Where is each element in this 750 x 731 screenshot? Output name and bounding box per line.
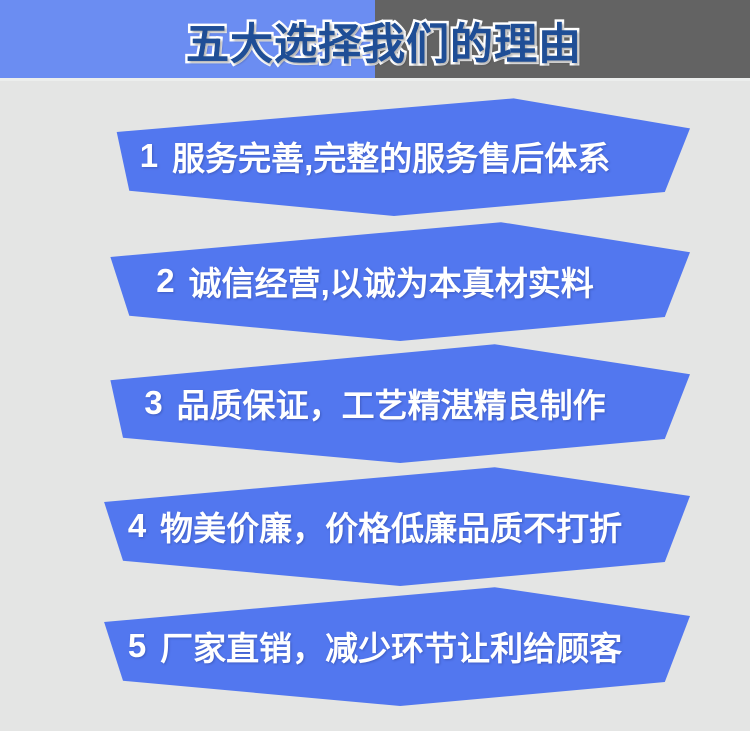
reason-item-2: 2 诚信经营,以诚为本真材实料	[60, 221, 690, 341]
reason-text-row: 3 品质保证，工艺精湛精良制作	[60, 343, 690, 463]
reason-label: 品质保证，工艺精湛精良制作	[177, 379, 606, 427]
reason-number: 1	[140, 137, 158, 175]
reason-label: 服务完善,完整的服务售后体系	[172, 132, 610, 180]
reasons-list: 1 服务完善,完整的服务售后体系 2 诚信经营,以诚为本真材实料 3 品质保证，…	[0, 81, 750, 731]
reason-item-4: 4 物美价廉，价格低廉品质不打折	[60, 466, 690, 586]
reason-number: 5	[128, 627, 146, 665]
reason-number: 3	[144, 384, 162, 422]
reason-item-1: 1 服务完善,完整的服务售后体系	[60, 96, 690, 216]
reason-text-row: 5 厂家直销，减少环节让利给顾客	[60, 586, 690, 706]
reason-item-5: 5 厂家直销，减少环节让利给顾客	[60, 586, 690, 706]
reason-text-row: 4 物美价廉，价格低廉品质不打折	[60, 466, 690, 586]
header-divider	[0, 78, 750, 81]
reason-label: 诚信经营,以诚为本真材实料	[189, 257, 594, 305]
reason-number: 4	[128, 507, 146, 545]
reason-number: 2	[156, 262, 174, 300]
reason-label: 物美价廉，价格低廉品质不打折	[160, 502, 622, 550]
page-title: 五大选择我们的理由	[0, 0, 750, 81]
reason-label: 厂家直销，减少环节让利给顾客	[160, 622, 622, 670]
page-header: 五大选择我们的理由 五大选择我们的理由	[0, 0, 750, 81]
reason-text-row: 2 诚信经营,以诚为本真材实料	[60, 221, 690, 341]
reason-text-row: 1 服务完善,完整的服务售后体系	[60, 96, 690, 216]
reason-item-3: 3 品质保证，工艺精湛精良制作	[60, 343, 690, 463]
